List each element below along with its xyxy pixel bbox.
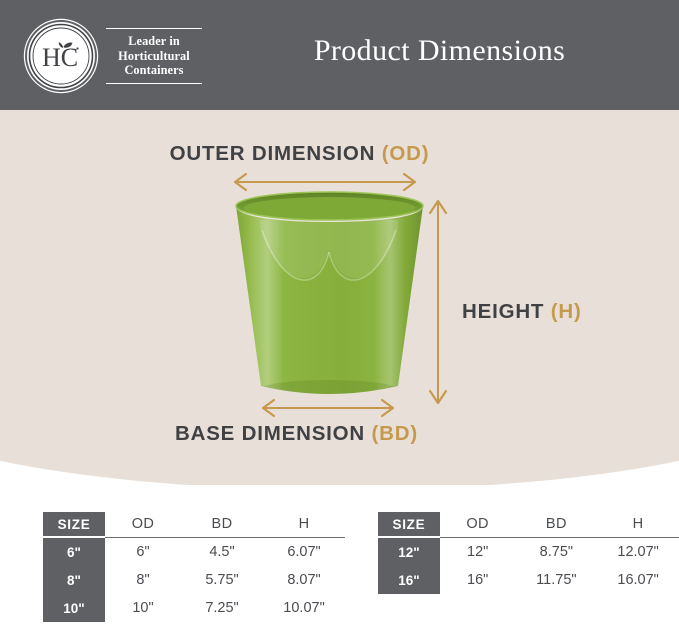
cell-od: 8": [105, 566, 181, 594]
cell-h: 8.07": [263, 566, 345, 594]
height-label: HEIGHT (H): [462, 300, 582, 324]
height-arrow-icon: [428, 196, 448, 408]
cell-h: 12.07": [597, 537, 679, 566]
outer-dimension-arrow-icon: [230, 172, 420, 192]
cell-bd: 4.5": [181, 537, 263, 566]
diagram-stage: OUTER DIMENSION (OD): [0, 110, 679, 485]
table-header-row: SIZE OD BD H: [378, 512, 679, 537]
cell-od: 12": [440, 537, 516, 566]
table-row: 10" 10" 7.25" 10.07": [43, 594, 345, 622]
height-code: (H): [551, 300, 582, 323]
column-header-od: OD: [105, 512, 181, 537]
cell-size: 8": [43, 566, 105, 594]
height-text: HEIGHT: [462, 300, 544, 323]
cell-od: 10": [105, 594, 181, 622]
column-header-bd: BD: [515, 512, 597, 537]
cell-h: 16.07": [597, 566, 679, 594]
base-dimension-label: BASE DIMENSION (BD): [0, 422, 679, 446]
base-dimension-text: BASE DIMENSION: [175, 422, 365, 445]
dimension-tables: SIZE OD BD H 6" 6" 4.5" 6.07" 8" 8" 5.75…: [0, 505, 679, 636]
cell-h: 6.07": [263, 537, 345, 566]
cell-size: 12": [378, 537, 440, 566]
cell-h: 10.07": [263, 594, 345, 622]
column-header-size: SIZE: [43, 512, 105, 537]
cell-od: 16": [440, 566, 516, 594]
cell-bd: 8.75": [515, 537, 597, 566]
table-header-row: SIZE OD BD H: [43, 512, 345, 537]
outer-dimension-label: OUTER DIMENSION (OD): [0, 142, 679, 166]
column-header-bd: BD: [181, 512, 263, 537]
table-row: 16" 16" 11.75" 16.07": [378, 566, 679, 594]
table-row: 8" 8" 5.75" 8.07": [43, 566, 345, 594]
column-header-h: H: [597, 512, 679, 537]
base-dimension-arrow-icon: [258, 398, 398, 418]
column-header-h: H: [263, 512, 345, 537]
base-dimension-code: (BD): [372, 422, 418, 445]
outer-dimension-code: (OD): [382, 142, 430, 165]
cell-size: 16": [378, 566, 440, 594]
dimension-table-left: SIZE OD BD H 6" 6" 4.5" 6.07" 8" 8" 5.75…: [43, 512, 345, 622]
cell-bd: 11.75": [515, 566, 597, 594]
green-planter-pot-icon: [232, 190, 427, 405]
table-row: 6" 6" 4.5" 6.07": [43, 537, 345, 566]
page-title: Product Dimensions: [0, 34, 679, 68]
column-header-size: SIZE: [378, 512, 440, 537]
outer-dimension-text: OUTER DIMENSION: [170, 142, 376, 165]
cell-size: 6": [43, 537, 105, 566]
header-bar: HC Leader in Horticultural Containers Pr…: [0, 0, 679, 110]
cell-bd: 5.75": [181, 566, 263, 594]
cell-od: 6": [105, 537, 181, 566]
cell-size: 10": [43, 594, 105, 622]
dimension-table-right: SIZE OD BD H 12" 12" 8.75" 12.07" 16" 16…: [378, 512, 679, 594]
column-header-od: OD: [440, 512, 516, 537]
cell-bd: 7.25": [181, 594, 263, 622]
table-row: 12" 12" 8.75" 12.07": [378, 537, 679, 566]
